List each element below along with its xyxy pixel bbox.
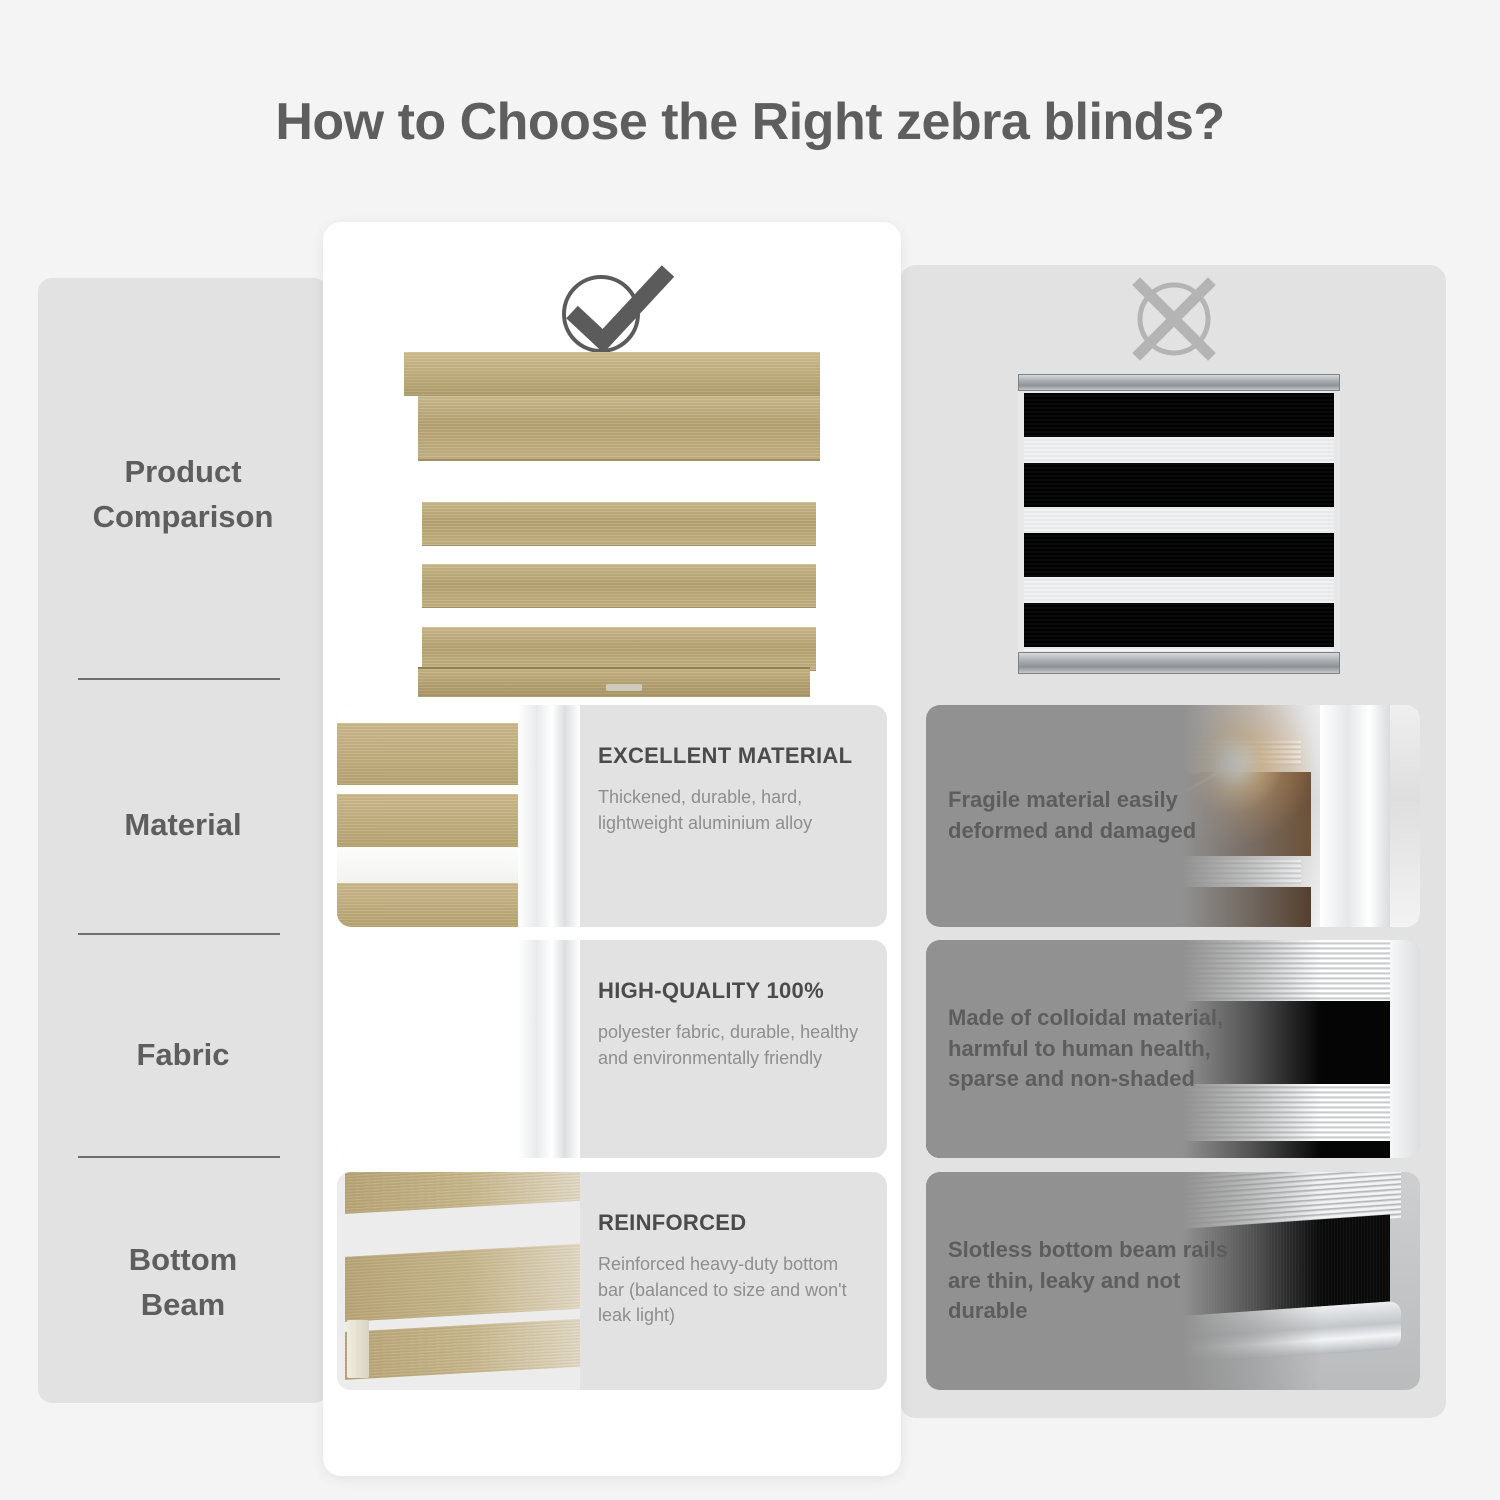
blind-headrail (1018, 374, 1340, 391)
row-label-product-comparison: Product Comparison (38, 450, 328, 540)
row-label-line1: Fabric (38, 1033, 328, 1078)
good-feature-text: EXCELLENT MATERIAL Thickened, durable, h… (580, 705, 887, 927)
row-label-line1: Product (38, 450, 328, 495)
row-label-line1: Bottom (38, 1238, 328, 1283)
check-circle-icon (546, 262, 676, 357)
row-label-rail: Product Comparison Material Fabric Botto… (38, 278, 328, 1403)
feature-heading: REINFORCED (598, 1210, 865, 1236)
blind-band-set (337, 705, 524, 927)
bad-feature-fabric: Made of colloidal material, harmful to h… (926, 940, 1420, 1158)
row-label-line1: Material (38, 803, 328, 848)
cross-circle-icon (1112, 276, 1236, 362)
blind-fabric (1024, 393, 1334, 651)
row-label-fabric: Fabric (38, 1033, 328, 1078)
row-label-line2: Beam (38, 1283, 328, 1328)
blind-band (337, 794, 524, 847)
good-feature-image (337, 705, 580, 927)
rail-divider (78, 1156, 280, 1158)
blind-band (337, 940, 524, 975)
blind-headrail (404, 352, 820, 396)
blind-sheer-band (337, 1049, 524, 1080)
blind-bottom-bar (1018, 652, 1340, 674)
blind-band (337, 883, 524, 927)
feature-body: polyester fabric, durable, healthy and e… (598, 1020, 865, 1071)
blind-band (337, 1080, 524, 1124)
feature-body: Thickened, durable, hard, lightweight al… (598, 785, 865, 836)
blind-sheer-band (337, 847, 524, 883)
bad-feature-text: Made of colloidal material, harmful to h… (948, 940, 1248, 1158)
rail-divider (78, 678, 280, 680)
bad-feature-text: Fragile material easily deformed and dam… (948, 705, 1248, 927)
bad-feature-material: Fragile material easily deformed and dam… (926, 705, 1420, 927)
good-feature-bottom-beam: REINFORCED Reinforced heavy-duty bottom … (337, 1172, 887, 1390)
bad-hero-image (1018, 374, 1340, 674)
good-feature-text: REINFORCED Reinforced heavy-duty bottom … (580, 1172, 887, 1390)
blind-slat (422, 502, 816, 546)
feature-heading: EXCELLENT MATERIAL (598, 743, 865, 769)
bottom-bar-end-cap (347, 1320, 369, 1378)
feature-body: Reinforced heavy-duty bottom bar (balanc… (598, 1252, 865, 1329)
good-feature-material: EXCELLENT MATERIAL Thickened, durable, h… (337, 705, 887, 927)
blind-slat (422, 564, 816, 608)
blind-sheer-band (337, 1123, 524, 1158)
good-feature-text: HIGH-QUALITY 100% polyester fabric, dura… (580, 940, 887, 1158)
row-label-material: Material (38, 803, 328, 848)
blind-bottom-bar (345, 1318, 580, 1380)
blind-band (337, 723, 524, 785)
row-label-bottom-beam: Bottom Beam (38, 1238, 328, 1328)
blind-slat (422, 627, 816, 671)
good-feature-fabric: HIGH-QUALITY 100% polyester fabric, dura… (337, 940, 887, 1158)
good-hero-image (404, 352, 820, 697)
page-title: How to Choose the Right zebra blinds? (0, 92, 1500, 152)
bad-feature-bottom-beam: Slotless bottom beam rails are thin, lea… (926, 1172, 1420, 1390)
blind-bottom-bar (418, 667, 810, 697)
feature-heading: HIGH-QUALITY 100% (598, 978, 865, 1004)
blind-slat (418, 396, 820, 460)
window-frame (518, 940, 580, 1158)
rail-divider (78, 933, 280, 935)
blind-band (345, 1172, 580, 1214)
bad-feature-text: Slotless bottom beam rails are thin, lea… (948, 1172, 1248, 1390)
blind-band-set (337, 940, 524, 1158)
blind-band (337, 1005, 524, 1049)
blind-sheer-band (337, 975, 524, 1006)
good-feature-image (337, 1172, 580, 1390)
window-frame (518, 705, 580, 927)
blind-slat (418, 460, 820, 461)
good-feature-image (337, 940, 580, 1158)
row-label-line2: Comparison (38, 495, 328, 540)
blind-band (345, 1244, 580, 1323)
